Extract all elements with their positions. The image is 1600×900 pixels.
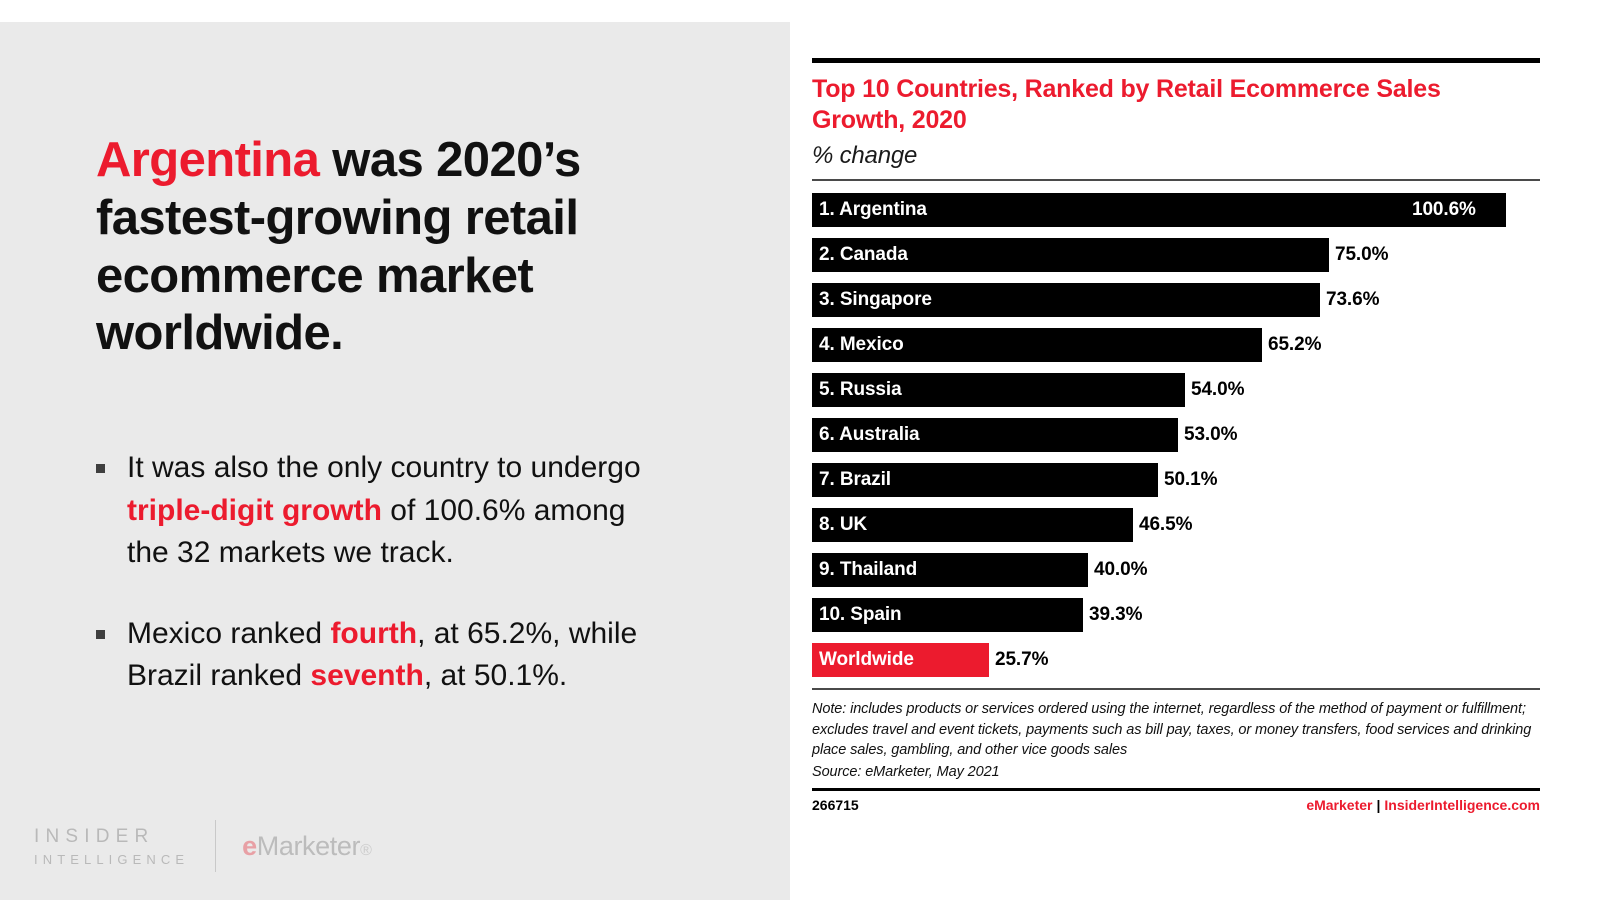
bar-value-label: 46.5% <box>1139 508 1192 542</box>
insider-intelligence-logo-top: INSIDER <box>34 827 189 846</box>
bullet-item: Mexico ranked fourth, at 65.2%, while Br… <box>96 613 671 698</box>
bar-value-label: 100.6% <box>1412 193 1476 227</box>
insider-intelligence-logo: INSIDER INTELLIGENCE <box>34 827 189 866</box>
bar-row: 5. Russia54.0% <box>812 373 1540 407</box>
footer-brand: eMarketer|InsiderIntelligence.com <box>1306 797 1540 813</box>
bar-category-label: 9. Thailand <box>819 553 917 587</box>
bar-value-label: 53.0% <box>1184 418 1237 452</box>
bullet-list: It was also the only country to undergo … <box>96 447 671 736</box>
bullet-text: It was also the only country to undergo … <box>127 447 671 575</box>
bar-value-label: 50.1% <box>1164 463 1217 497</box>
bullet-segment: , at 50.1%. <box>424 659 567 692</box>
bullet-emphasis: fourth <box>330 617 417 650</box>
bar-value-label: 40.0% <box>1094 553 1147 587</box>
bullet-square-icon <box>96 630 105 639</box>
chart-note: Note: includes products or services orde… <box>812 699 1540 761</box>
chart-subtitle: % change <box>812 142 1540 170</box>
bar-row: 3. Singapore73.6% <box>812 283 1540 317</box>
bar-value-label: 39.3% <box>1089 598 1142 632</box>
bullet-item: It was also the only country to undergo … <box>96 447 671 575</box>
bar-row: 8. UK46.5% <box>812 508 1540 542</box>
bar-category-label: 8. UK <box>819 508 867 542</box>
bullet-segment: It was also the only country to undergo <box>127 451 641 484</box>
bar-category-label: 5. Russia <box>819 373 902 407</box>
footer-brand-name: eMarketer <box>1306 797 1372 813</box>
footer-rule <box>812 788 1540 791</box>
bullet-text: Mexico ranked fourth, at 65.2%, while Br… <box>127 613 671 698</box>
insider-intelligence-logo-bottom: INTELLIGENCE <box>34 853 189 866</box>
bar-row: Worldwide25.7% <box>812 643 1540 677</box>
bar-category-label: 4. Mexico <box>819 328 904 362</box>
bar-category-label: 1. Argentina <box>819 193 927 227</box>
bar-value-label: 65.2% <box>1268 328 1321 362</box>
emarketer-logo: eMarketer® <box>242 831 371 862</box>
bar-chart: 1. Argentina100.6%2. Canada75.0%3. Singa… <box>812 181 1540 677</box>
headline-highlight: Argentina <box>96 133 319 187</box>
bar-row: 4. Mexico65.2% <box>812 328 1540 362</box>
emarketer-logo-e: e <box>242 831 257 861</box>
chart-top-rule <box>812 58 1540 63</box>
bar-value-label: 25.7% <box>995 643 1048 677</box>
chart-panel: Top 10 Countries, Ranked by Retail Ecomm… <box>812 0 1540 900</box>
bar-row: 10. Spain39.3% <box>812 598 1540 632</box>
chart-title: Top 10 Countries, Ranked by Retail Ecomm… <box>812 74 1502 135</box>
chart-source: Source: eMarketer, May 2021 <box>812 762 1540 783</box>
bullet-segment: Mexico ranked <box>127 617 330 650</box>
emarketer-logo-rest: Marketer <box>257 831 360 861</box>
bar-row: 1. Argentina100.6% <box>812 193 1540 227</box>
bar-row: 2. Canada75.0% <box>812 238 1540 272</box>
bar-value-label: 73.6% <box>1326 283 1379 317</box>
left-content-panel: Argentina was 2020’s fastest-growing ret… <box>0 22 790 900</box>
bar-category-label: 10. Spain <box>819 598 902 632</box>
bar-row: 7. Brazil50.1% <box>812 463 1540 497</box>
bar-value-label: 75.0% <box>1335 238 1388 272</box>
bullet-square-icon <box>96 464 105 473</box>
footer-separator: | <box>1372 797 1384 813</box>
bar-value-label: 54.0% <box>1191 373 1244 407</box>
bullet-emphasis: triple-digit growth <box>127 494 382 527</box>
chart-bottom-rule <box>812 688 1540 690</box>
bar-row: 6. Australia53.0% <box>812 418 1540 452</box>
logo-divider <box>215 820 216 872</box>
bar-category-label: 3. Singapore <box>819 283 932 317</box>
bar-category-label: 6. Australia <box>819 418 920 452</box>
brand-lockup: INSIDER INTELLIGENCE eMarketer® <box>34 820 371 872</box>
footnotes: Note: includes products or services orde… <box>812 699 1540 782</box>
headline: Argentina was 2020’s fastest-growing ret… <box>96 132 676 363</box>
chart-footer: 266715 eMarketer|InsiderIntelligence.com <box>812 797 1540 813</box>
footer-url[interactable]: InsiderIntelligence.com <box>1384 797 1540 813</box>
registered-mark: ® <box>360 842 371 859</box>
bar-category-label: Worldwide <box>819 643 914 677</box>
bar-row: 9. Thailand40.0% <box>812 553 1540 587</box>
bar-category-label: 7. Brazil <box>819 463 891 497</box>
chart-id: 266715 <box>812 797 859 813</box>
bullet-emphasis: seventh <box>310 659 423 692</box>
bar-category-label: 2. Canada <box>819 238 908 272</box>
